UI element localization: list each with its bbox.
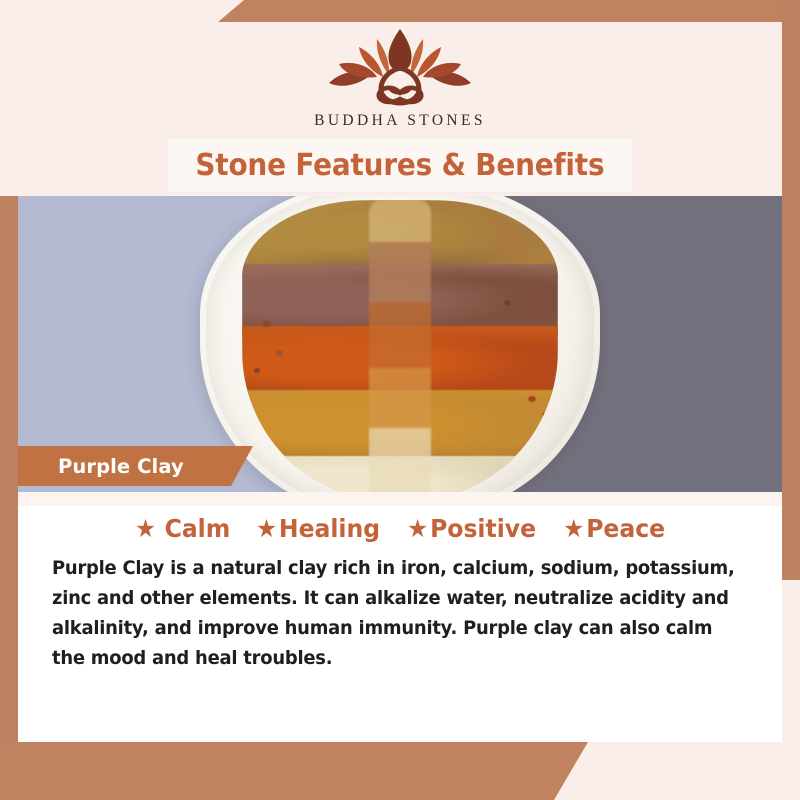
star-icon: ★ xyxy=(256,516,277,541)
powder-band-orange xyxy=(242,326,558,400)
star-icon: ★ xyxy=(135,516,156,541)
title-banner: Stone Features & Benefits xyxy=(168,138,632,192)
feature-list: ★ Calm ★ Healing ★ Positive ★ Peace xyxy=(18,506,782,550)
feature-item-peace: ★ Peace xyxy=(563,514,665,543)
decorative-bar-right xyxy=(782,0,800,580)
lotus-meditation-figure-icon xyxy=(315,27,485,109)
powder-speck xyxy=(254,368,260,373)
powder-speck xyxy=(504,300,511,306)
decorative-bar-top xyxy=(218,0,800,22)
powder-band-mauve xyxy=(242,264,558,336)
powder-band-cream xyxy=(242,456,558,492)
feature-item-calm: ★ Calm xyxy=(135,514,230,543)
decorative-bar-left xyxy=(0,196,18,800)
feature-item-positive: ★ Positive xyxy=(407,514,536,543)
powder-speck xyxy=(276,350,283,356)
stone-name-label: Purple Clay xyxy=(58,455,184,478)
star-icon: ★ xyxy=(407,516,428,541)
stone-name-badge: Purple Clay xyxy=(18,446,253,486)
clay-powder-bands xyxy=(242,200,558,492)
logo: BUDDHA STONES xyxy=(314,27,486,130)
decorative-bar-bottom xyxy=(0,742,588,800)
feature-label: Positive xyxy=(430,514,536,543)
feature-label: Healing xyxy=(279,514,380,543)
brand-header: BUDDHA STONES xyxy=(18,22,782,134)
powder-speck xyxy=(542,412,548,417)
brand-name: BUDDHA STONES xyxy=(314,112,486,130)
stone-description: Purple Clay is a natural clay rich in ir… xyxy=(52,554,739,674)
powder-band-tan xyxy=(242,390,558,466)
content-top-strip xyxy=(18,492,782,506)
feature-label: Calm xyxy=(165,514,231,543)
clay-plate xyxy=(200,196,600,492)
powder-speck xyxy=(528,396,536,402)
powder-center-strip xyxy=(369,200,431,492)
feature-label: Peace xyxy=(586,514,665,543)
powder-speck xyxy=(262,320,271,327)
star-icon: ★ xyxy=(563,516,584,541)
feature-item-healing: ★ Healing xyxy=(256,514,380,543)
page-title: Stone Features & Benefits xyxy=(196,148,605,183)
page-root: BUDDHA STONES Stone Features & Benefits xyxy=(0,0,800,800)
content-panel: ★ Calm ★ Healing ★ Positive ★ Peace Purp… xyxy=(18,492,782,742)
powder-band-ochre xyxy=(242,200,558,278)
